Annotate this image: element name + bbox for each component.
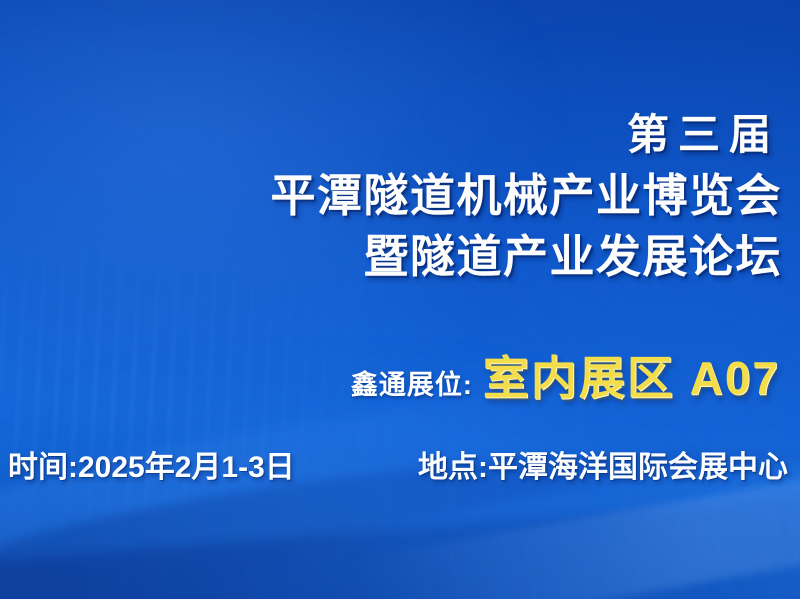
- event-info-row: 时间:2025年2月1-3日 地点:平潭海洋国际会展中心: [8, 442, 788, 486]
- headline-line-edition: 第三届: [270, 104, 782, 165]
- banner-content: 第三届 平潭隧道机械产业博览会 暨隧道产业发展论坛 鑫通展位: 室内展区 A07…: [0, 0, 800, 599]
- booth-label: 鑫通展位:: [351, 363, 473, 402]
- event-venue-text: 地点:平潭海洋国际会展中心: [418, 442, 788, 486]
- headline-line-forum-name: 暨隧道产业发展论坛: [270, 226, 782, 287]
- booth-info-row: 鑫通展位: 室内展区 A07: [351, 342, 780, 408]
- event-headline: 第三届 平潭隧道机械产业博览会 暨隧道产业发展论坛: [270, 104, 782, 287]
- headline-line-expo-name: 平潭隧道机械产业博览会: [270, 165, 782, 226]
- exhibition-banner: 第三届 平潭隧道机械产业博览会 暨隧道产业发展论坛 鑫通展位: 室内展区 A07…: [0, 0, 800, 599]
- event-date-text: 时间:2025年2月1-3日: [8, 442, 295, 486]
- booth-number-value: 室内展区 A07: [483, 342, 780, 408]
